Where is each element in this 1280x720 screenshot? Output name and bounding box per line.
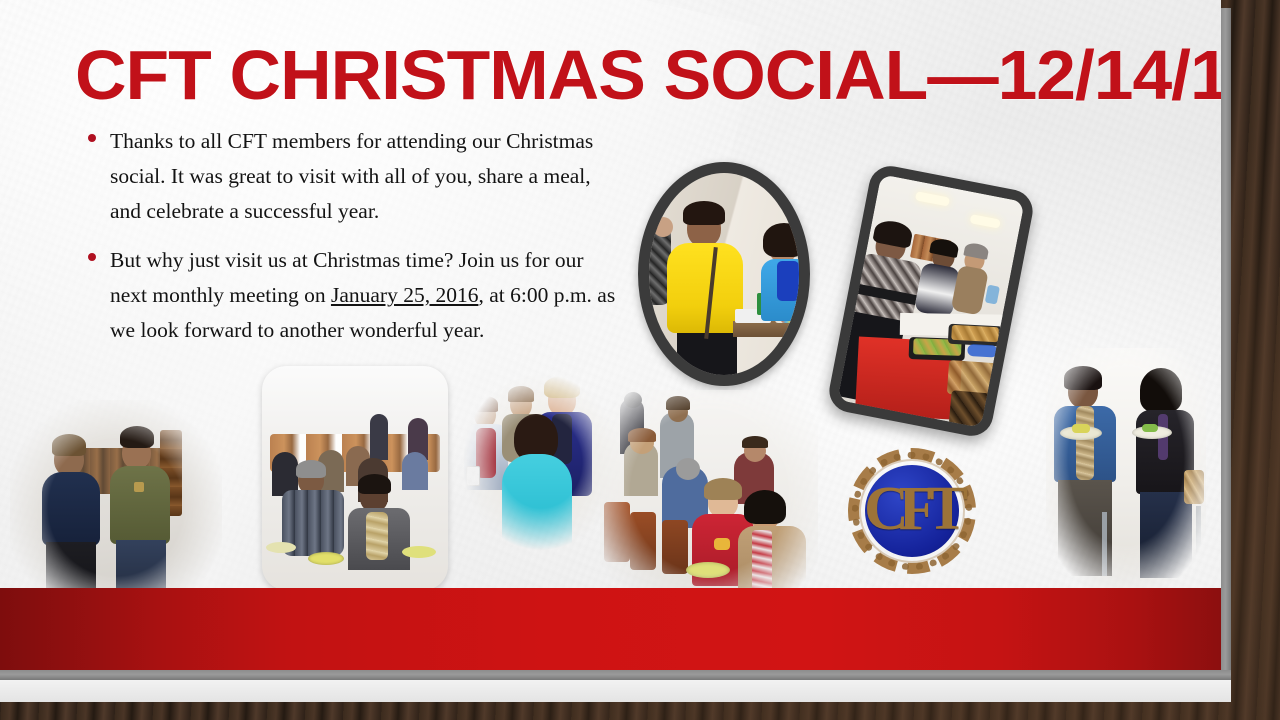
frame-rail-bottom [0, 670, 1231, 680]
photo-seated-group-eating [262, 366, 448, 590]
photo-oval-yellow-top [638, 162, 810, 386]
list-item: Thanks to all CFT members for attending … [88, 124, 620, 229]
page-title: CFT CHRISTMAS SOCIAL—12/14/15 [75, 40, 1156, 110]
bullet-thanks-text: Thanks to all CFT members for attending … [110, 124, 620, 229]
desk-backdrop: CFT CHRISTMAS SOCIAL—12/14/15 Thanks to … [0, 0, 1280, 720]
footer-red-band [0, 588, 1221, 670]
meeting-date: January 25, 2016 [331, 283, 479, 307]
bullet-dot-icon [88, 134, 96, 142]
frame-white-bottom [0, 680, 1231, 702]
bullet-dot-icon [88, 253, 96, 261]
photo-audience-eating [600, 390, 818, 616]
photo-two-women-talking [10, 400, 222, 615]
photo-two-women-plates [1046, 348, 1206, 592]
presentation-slide: CFT CHRISTMAS SOCIAL—12/14/15 Thanks to … [0, 0, 1221, 670]
logo-monogram: CFT [848, 448, 976, 574]
bullet-next-meeting-text: But why just visit us at Christmas time?… [110, 243, 620, 348]
list-item: But why just visit us at Christmas time?… [88, 243, 620, 348]
cft-logo: CFT [848, 448, 976, 574]
photo-buffet-table [826, 162, 1037, 439]
frame-rail-right [1221, 8, 1231, 680]
bullet-list: Thanks to all CFT members for attending … [88, 124, 620, 362]
